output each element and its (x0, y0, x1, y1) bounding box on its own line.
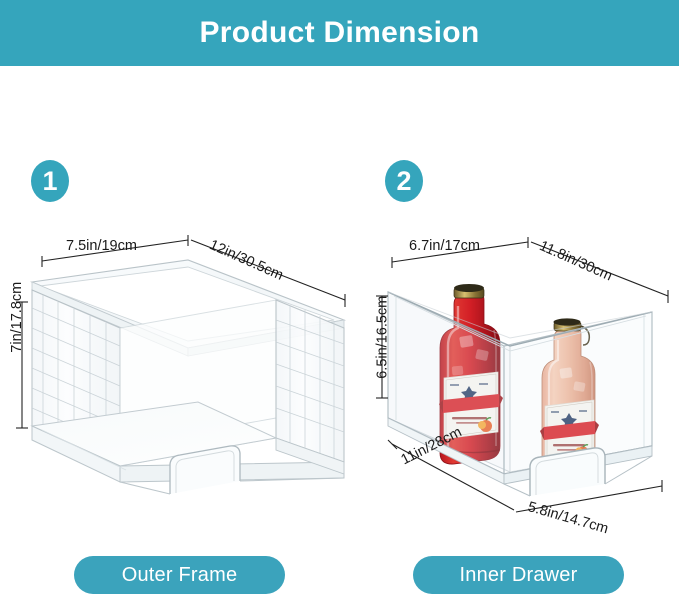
dimension-label-inner-height: 6.5in/16.5cm (375, 296, 390, 379)
frame-right-wall (276, 300, 344, 462)
product-image-outer-frame (18, 250, 358, 515)
product-image-inner-drawer (382, 250, 672, 515)
product-badge-2: 2 (385, 160, 423, 202)
header-banner: Product Dimension (0, 0, 679, 66)
dimension-label-outer-width: 7.5in/19cm (66, 239, 137, 254)
page-title: Product Dimension (199, 18, 479, 48)
dimension-label-inner-width: 6.7in/17cm (409, 239, 480, 254)
caption-pill-outer-frame-label: Outer Frame (122, 565, 238, 585)
caption-pill-inner-drawer: Inner Drawer (413, 556, 624, 594)
dimension-label-outer-height: 7in/17.8cm (10, 282, 25, 353)
product-badge-1: 1 (31, 160, 69, 202)
inner-drawer-illustration (382, 250, 672, 515)
caption-pill-inner-drawer-label: Inner Drawer (460, 565, 578, 585)
product-badge-1-number: 1 (42, 168, 57, 195)
caption-pill-outer-frame: Outer Frame (74, 556, 285, 594)
product-badge-2-number: 2 (396, 168, 411, 195)
outer-frame-illustration (18, 250, 358, 515)
